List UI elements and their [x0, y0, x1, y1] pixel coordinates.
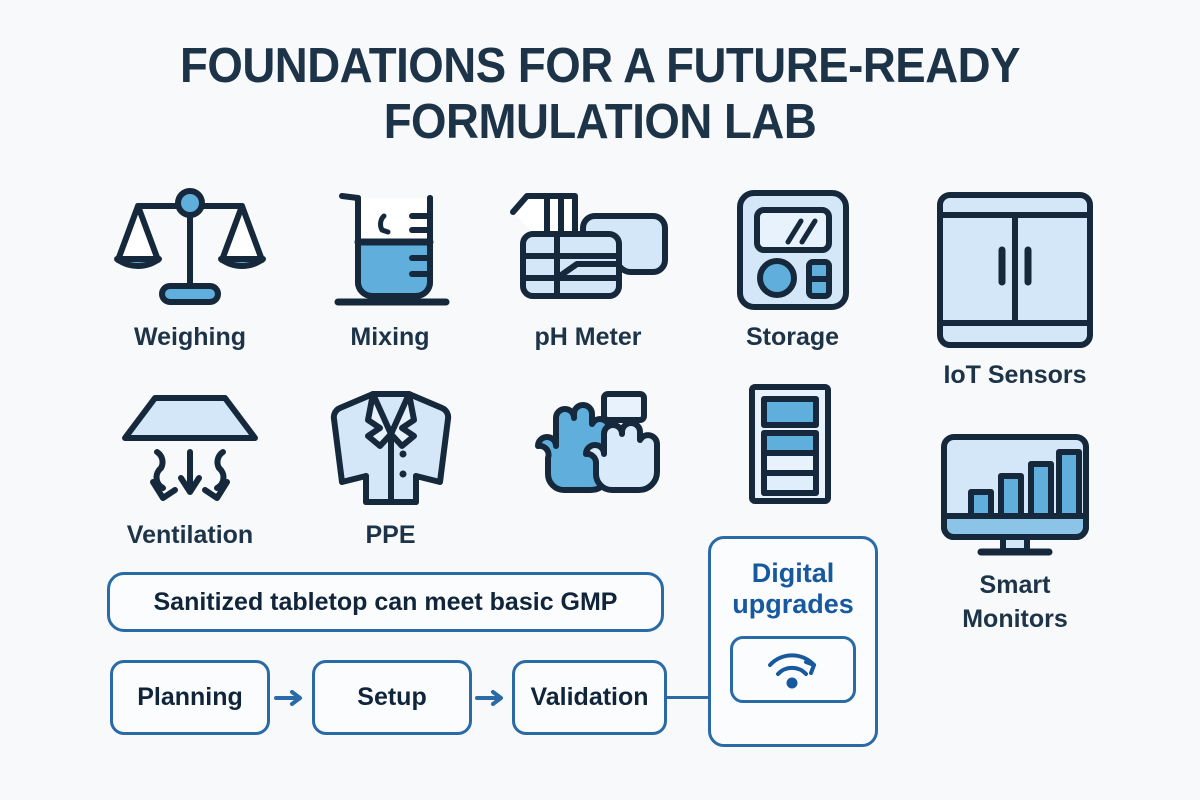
- arrow-right-icon: [274, 689, 306, 707]
- infographic-canvas: FOUNDATIONS FOR A FUTURE-READY FORMULATI…: [0, 0, 1200, 800]
- icon-label: IoT Sensors: [943, 358, 1086, 392]
- icon-label: Mixing: [350, 320, 429, 354]
- control-panel-icon: [735, 186, 851, 312]
- icon-tile-mixing: Mixing: [315, 186, 465, 354]
- gmp-banner-text: Sanitized tabletop can meet basic GMP: [153, 588, 617, 617]
- gloves-icon: [524, 388, 666, 508]
- icon-label: Smart Monitors: [962, 568, 1068, 636]
- icon-tile-ppe: PPE: [318, 386, 463, 552]
- lab-coat-icon: [318, 386, 464, 510]
- arrow-right-icon: [475, 689, 507, 707]
- flow-step-label: Validation: [530, 683, 648, 712]
- page-title-line-1: FOUNDATIONS FOR A FUTURE-READY: [42, 38, 1158, 94]
- icon-tile-gloves: [520, 388, 670, 516]
- icon-label: PPE: [365, 518, 415, 552]
- icon-tile-ventilation: Ventilation: [105, 390, 275, 552]
- page-title-line-2: FORMULATION LAB: [42, 94, 1158, 150]
- ph-meter-icon: [505, 186, 671, 312]
- flow-connector-line: [667, 696, 713, 699]
- icon-label: Ventilation: [127, 518, 253, 552]
- gmp-banner[interactable]: Sanitized tabletop can meet basic GMP: [107, 572, 664, 632]
- digital-upgrades-title: Digital upgrades: [732, 558, 854, 620]
- icon-tile-shelving-rack: [735, 379, 845, 513]
- page-title: FOUNDATIONS FOR A FUTURE-READY FORMULATI…: [42, 38, 1158, 150]
- icon-tile-weighing: Weighing: [110, 186, 270, 354]
- icon-tile-ph-meter: pH Meter: [503, 186, 673, 354]
- fume-hood-airflow-icon: [117, 390, 263, 510]
- flow-step-planning[interactable]: Planning: [110, 660, 270, 735]
- flow-step-label: Setup: [357, 683, 426, 712]
- icon-tile-smart-monitors: Smart Monitors: [915, 432, 1115, 636]
- icon-tile-storage: Storage: [715, 186, 870, 354]
- flow-step-label: Planning: [137, 683, 243, 712]
- flow-step-validation[interactable]: Validation: [512, 660, 667, 735]
- balance-scale-icon: [114, 186, 266, 312]
- icon-label: Storage: [746, 320, 839, 354]
- beaker-icon: [328, 186, 452, 312]
- flow-step-setup[interactable]: Setup: [312, 660, 472, 735]
- shelving-rack-icon: [748, 379, 832, 505]
- icon-label: pH Meter: [535, 320, 642, 354]
- wifi-icon: [766, 651, 820, 689]
- monitor-bar-chart-icon: [939, 432, 1091, 560]
- icon-tile-iot-sensors: IoT Sensors: [915, 186, 1115, 392]
- wifi-icon-box[interactable]: [730, 636, 856, 703]
- icon-label: Weighing: [134, 320, 246, 354]
- digital-upgrades-panel[interactable]: Digital upgrades: [708, 536, 878, 747]
- cabinet-icon: [935, 186, 1095, 350]
